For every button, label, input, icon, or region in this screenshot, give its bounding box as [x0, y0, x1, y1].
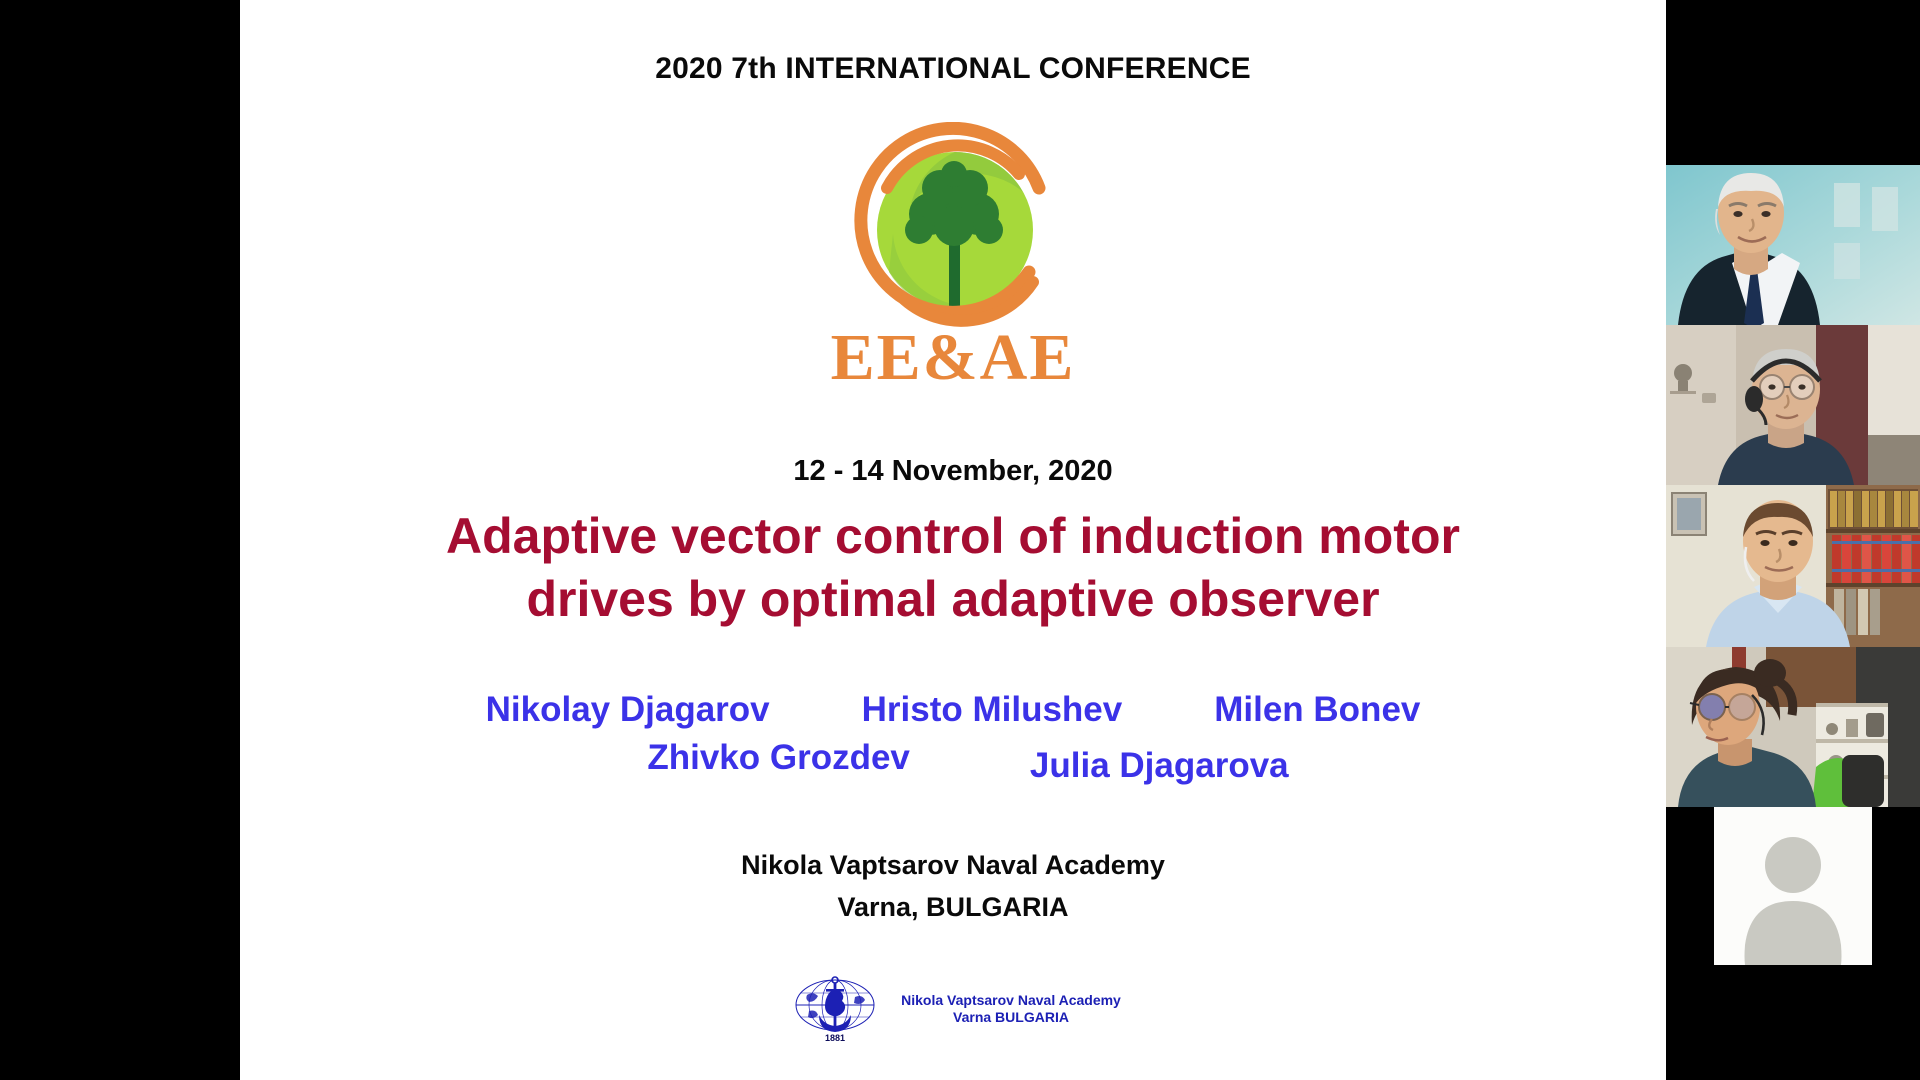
author-name: Zhivko Grozdev: [647, 738, 910, 778]
video-tile-participant-5[interactable]: [1714, 807, 1872, 965]
svg-text:1881: 1881: [825, 1033, 845, 1043]
author-name: Hristo Milushev: [862, 690, 1123, 730]
video-tile-participant-2[interactable]: [1666, 325, 1920, 485]
seal-text: Nikola Vaptsarov Naval Academy Varna BUL…: [901, 992, 1121, 1027]
participant-video-strip: [1666, 0, 1920, 1080]
presentation-slide: 2020 7th INTERNATIONAL CONFERENCE: [240, 0, 1666, 1080]
author-name: Julia Djagarova: [1030, 746, 1289, 786]
naval-academy-seal-block: 1881 Nikola Vaptsarov Naval Academy Varn…: [240, 975, 1666, 1043]
participant-video-feed: [1666, 485, 1920, 647]
eeae-logo: EE&AE: [240, 122, 1666, 392]
author-row-2: Zhivko Grozdev Julia Djagarova: [240, 738, 1666, 778]
seal-text-line-1: Nikola Vaptsarov Naval Academy: [901, 992, 1121, 1010]
conference-dates: 12 - 14 November, 2020: [240, 455, 1666, 488]
video-tile-participant-1[interactable]: [1666, 165, 1920, 325]
author-list: Nikolay Djagarov Hristo Milushev Milen B…: [240, 690, 1666, 778]
paper-title-line-1: Adaptive vector control of induction mot…: [264, 505, 1642, 568]
video-tile-participant-4[interactable]: [1666, 647, 1920, 807]
naval-academy-globe-anchor-seal-icon: 1881: [785, 975, 885, 1043]
seal-text-line-2: Varna BULGARIA: [901, 1009, 1121, 1027]
eeae-globe-tree-logo: [843, 122, 1063, 332]
affiliation-location: Varna, BULGARIA: [240, 887, 1666, 929]
paper-title: Adaptive vector control of induction mot…: [240, 505, 1666, 631]
participant-video-feed: [1666, 647, 1920, 807]
participant-video-feed: [1666, 325, 1920, 485]
video-tile-participant-3[interactable]: [1666, 485, 1920, 647]
author-name: Milen Bonev: [1214, 690, 1420, 730]
participant-video-feed: [1666, 165, 1920, 325]
conference-header: 2020 7th INTERNATIONAL CONFERENCE: [240, 52, 1666, 86]
author-name: Nikolay Djagarov: [486, 690, 770, 730]
paper-title-line-2: drives by optimal adaptive observer: [264, 568, 1642, 631]
default-avatar-icon: [1714, 807, 1872, 965]
affiliation-institution: Nikola Vaptsarov Naval Academy: [240, 845, 1666, 887]
eeae-wordmark: EE&AE: [831, 320, 1076, 396]
author-row-1: Nikolay Djagarov Hristo Milushev Milen B…: [240, 690, 1666, 730]
screen-root: 2020 7th INTERNATIONAL CONFERENCE: [0, 0, 1920, 1080]
affiliation: Nikola Vaptsarov Naval Academy Varna, BU…: [240, 845, 1666, 929]
